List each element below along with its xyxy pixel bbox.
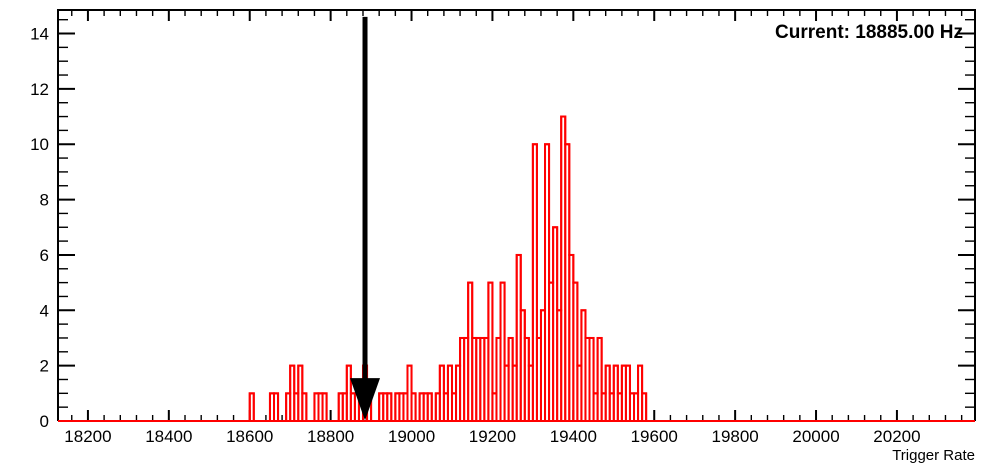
x-tick-label: 19800: [711, 427, 758, 446]
x-tick-label: 19400: [550, 427, 597, 446]
y-axis-tick-labels: 02468101214: [30, 25, 49, 431]
y-tick-label: 14: [30, 25, 49, 44]
current-rate-marker: [350, 17, 380, 421]
x-tick-label: 18800: [307, 427, 354, 446]
y-tick-label: 12: [30, 80, 49, 99]
histogram-canvas: 1820018400186001880019000192001940019600…: [0, 0, 996, 472]
x-tick-label: 20000: [792, 427, 839, 446]
histogram-series: [58, 117, 975, 421]
x-axis-title: Trigger Rate: [892, 447, 975, 464]
x-tick-label: 18200: [64, 427, 111, 446]
histogram-bin: [250, 393, 254, 421]
histogram-bin: [428, 393, 432, 421]
trigger-rate-histogram-panel: 1820018400186001880019000192001940019600…: [0, 0, 996, 472]
x-tick-label: 18600: [226, 427, 273, 446]
y-tick-label: 6: [40, 246, 49, 265]
x-tick-label: 19000: [388, 427, 435, 446]
histogram-bin: [642, 393, 646, 421]
y-tick-label: 2: [40, 357, 49, 376]
y-tick-label: 10: [30, 135, 49, 154]
histogram-bin: [274, 393, 278, 421]
histogram-bin: [323, 393, 327, 421]
histogram-bin: [302, 393, 306, 421]
x-tick-label: 18400: [145, 427, 192, 446]
y-tick-label: 0: [40, 412, 49, 431]
current-rate-readout: Current: 18885.00 Hz: [775, 22, 963, 43]
y-tick-label: 8: [40, 191, 49, 210]
histogram-bin: [387, 393, 391, 421]
histogram-bin: [412, 393, 416, 421]
x-tick-label: 20200: [873, 427, 920, 446]
x-axis-tick-labels: 1820018400186001880019000192001940019600…: [64, 427, 920, 446]
x-tick-label: 19200: [469, 427, 516, 446]
x-tick-label: 19600: [631, 427, 678, 446]
y-tick-label: 4: [40, 301, 49, 320]
